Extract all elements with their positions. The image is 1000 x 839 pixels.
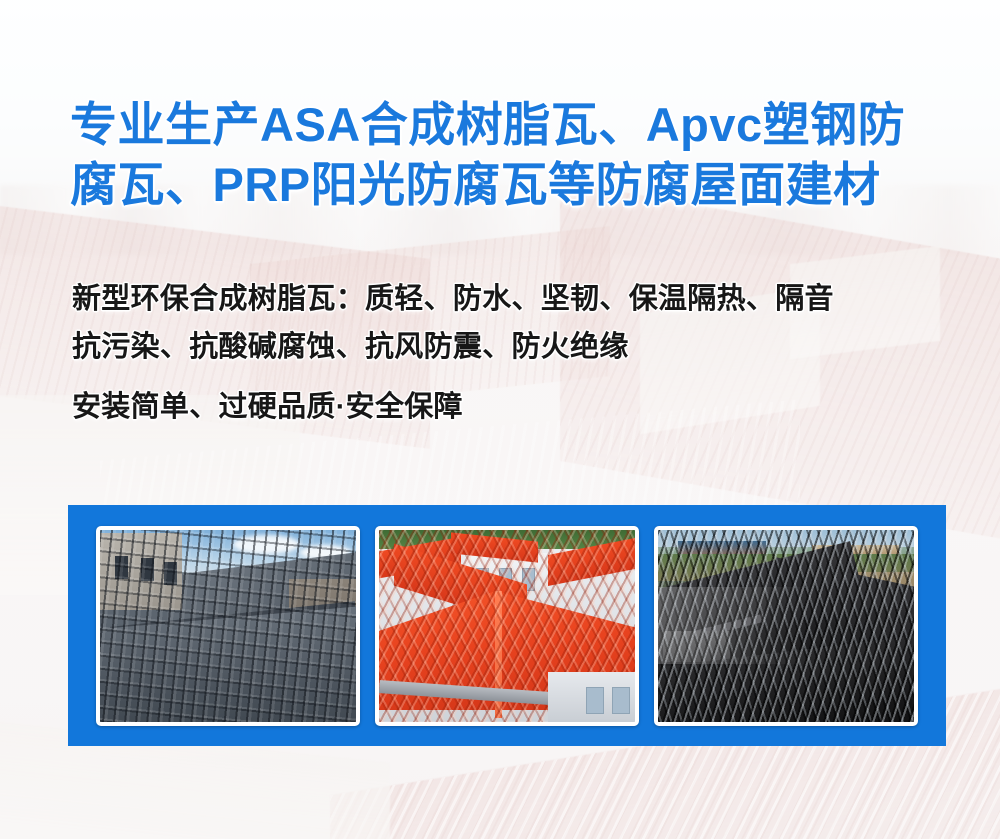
- photo1-tile-texture: [100, 530, 356, 722]
- black-resin-tile-roof-photo: [658, 530, 914, 722]
- headline-line-1: 专业生产ASA合成树脂瓦、Apvc塑钢防: [70, 98, 905, 151]
- gallery-photo-2[interactable]: [375, 526, 639, 726]
- grey-resin-tile-roof-photo: [100, 530, 356, 722]
- gallery-photo-3[interactable]: [654, 526, 918, 726]
- red-resin-tile-roof-photo: [379, 530, 635, 722]
- page-subtitle: 新型环保合成树脂瓦：质轻、防水、坚韧、保温隔热、隔音 抗污染、抗酸碱腐蚀、抗风防…: [72, 275, 962, 431]
- headline-line-2: 腐瓦、PRP阳光防腐瓦等防腐屋面建材: [70, 155, 950, 215]
- gallery-photo-1[interactable]: [96, 526, 360, 726]
- photo2-lower-window-a: [586, 687, 604, 714]
- photo2-lower-window-b: [612, 687, 630, 714]
- subtitle-line-2: 抗污染、抗酸碱腐蚀、抗风防震、防火绝缘: [72, 331, 629, 363]
- subtitle-line-3: 安装简单、过硬品质·安全保障: [72, 383, 962, 431]
- page-headline: 专业生产ASA合成树脂瓦、Apvc塑钢防 腐瓦、PRP阳光防腐瓦等防腐屋面建材: [70, 95, 950, 215]
- product-photo-gallery: [68, 505, 946, 746]
- photo3-highlight: [658, 587, 914, 664]
- subtitle-line-1: 新型环保合成树脂瓦：质轻、防水、坚韧、保温隔热、隔音: [72, 283, 834, 315]
